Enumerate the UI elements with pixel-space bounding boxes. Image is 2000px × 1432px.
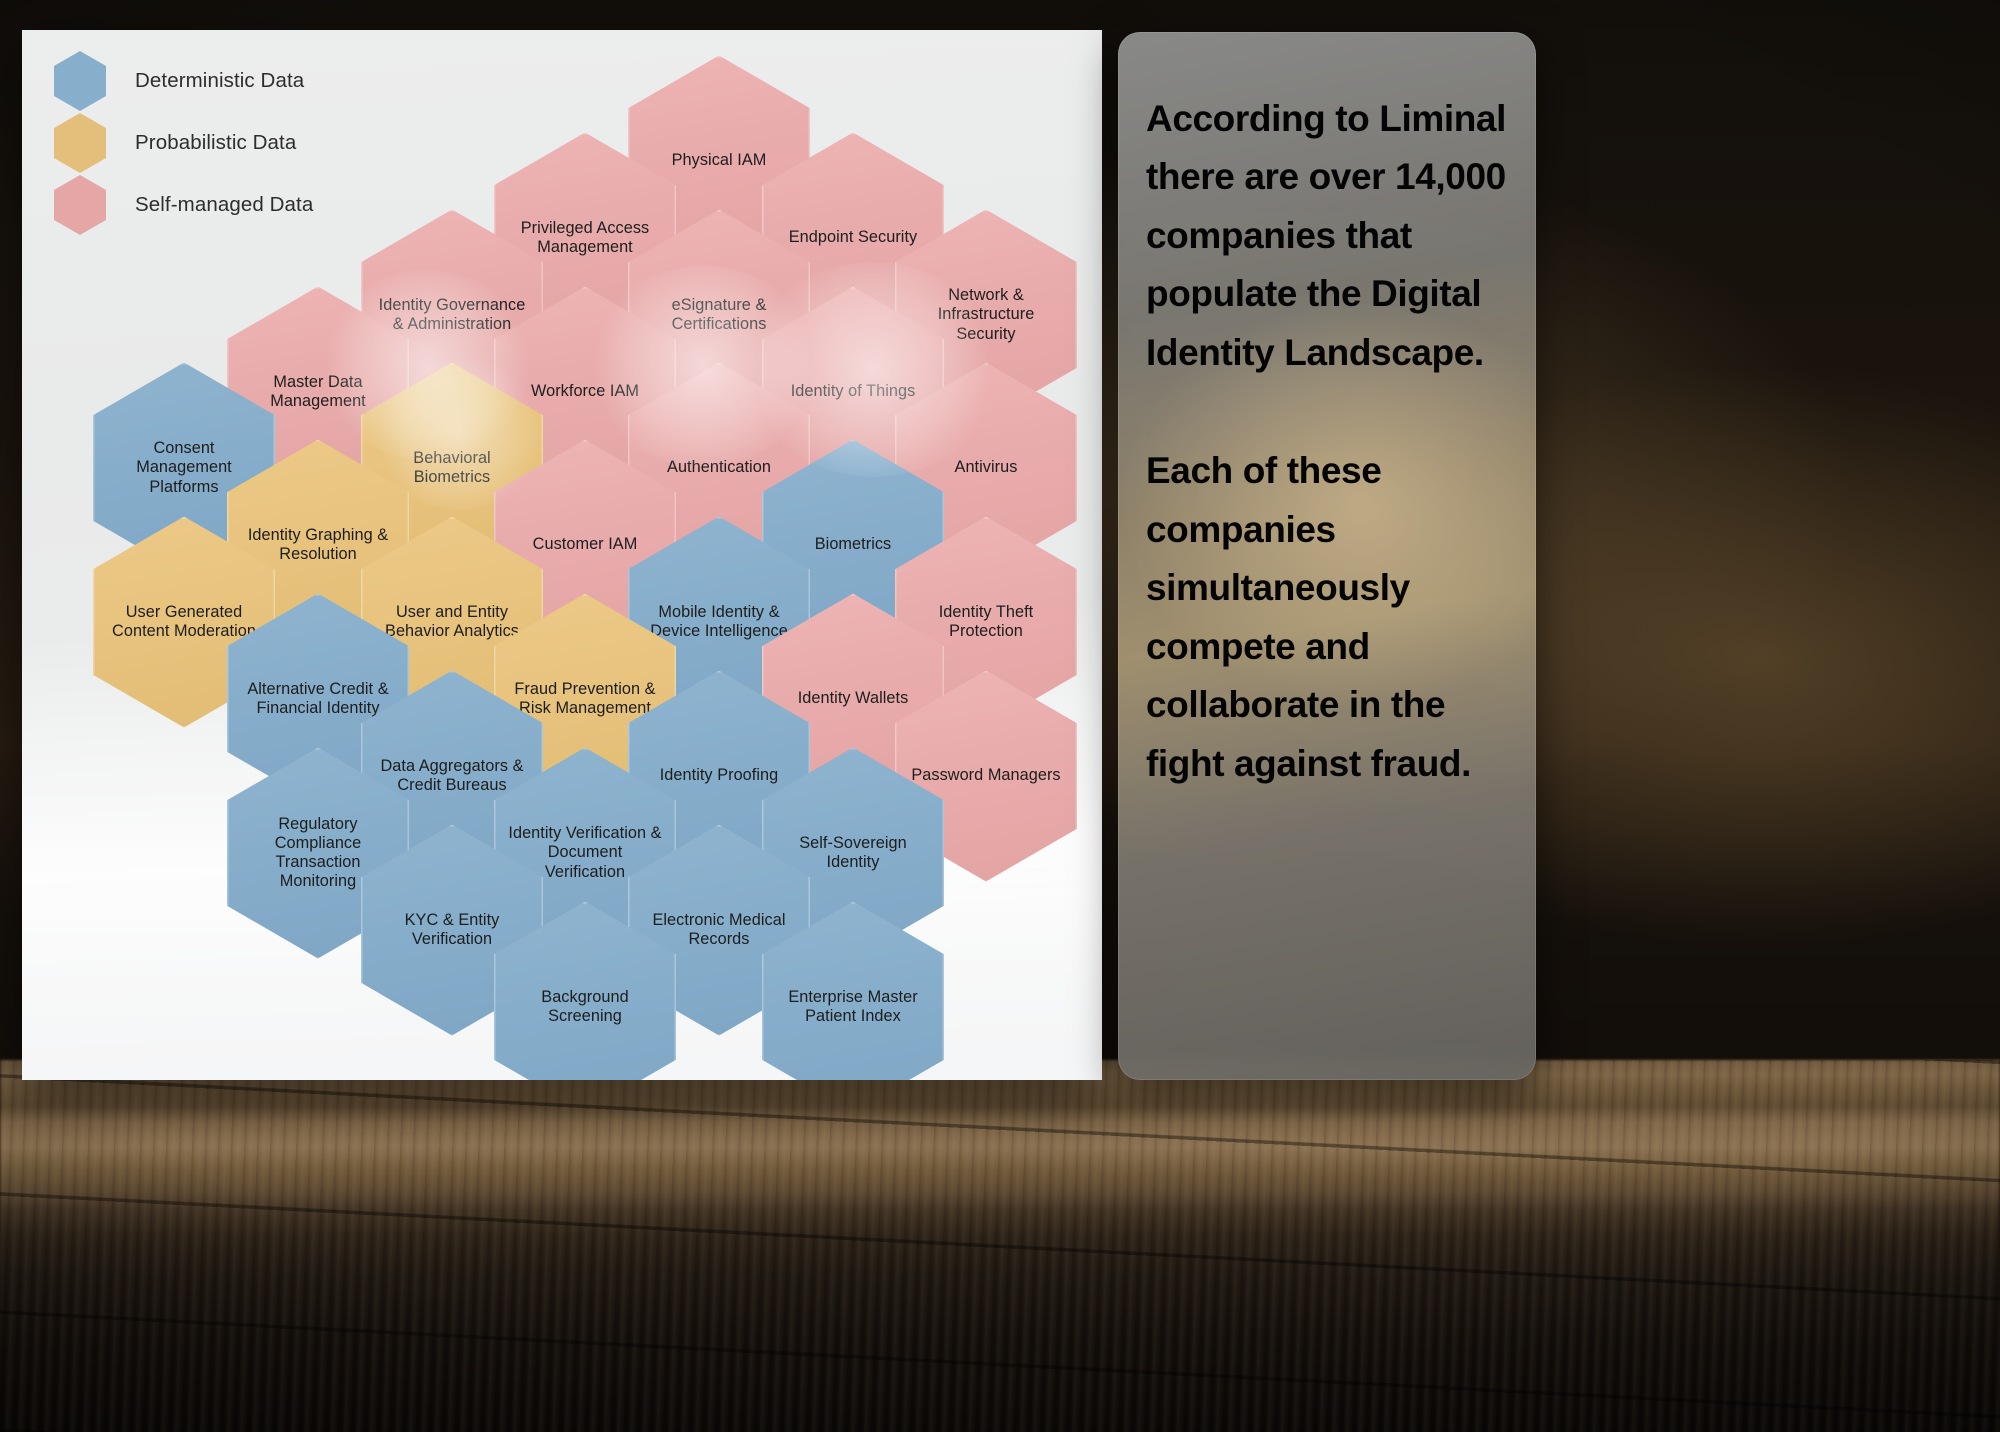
caption-card: According to Liminal there are over 14,0… [1118, 32, 1536, 1080]
hex-cell-label: Background Screening [494, 988, 676, 1026]
hex-cell-label: Physical IAM [659, 151, 780, 170]
hex-cell-label: Endpoint Security [776, 228, 930, 247]
legend-item-deterministic[interactable]: Deterministic Data [54, 50, 313, 112]
hex-cell-label: Customer IAM [520, 535, 651, 554]
hex-cell-label: Antivirus [942, 458, 1031, 477]
legend: Deterministic Data Probabilistic Data Se… [54, 50, 313, 236]
hexagon-swatch-icon [54, 175, 106, 235]
hexagon-swatch-icon [54, 51, 106, 111]
landscape-slide: Deterministic Data Probabilistic Data Se… [22, 30, 1102, 1080]
hex-cell-label: Identity Wallets [785, 689, 922, 708]
legend-item-label: Deterministic Data [135, 69, 304, 93]
hex-cell-label: Biometrics [802, 535, 905, 554]
hexagon-swatch-icon [54, 113, 106, 173]
legend-item-label: Self-managed Data [135, 193, 313, 217]
caption-paragraph-2: Each of these companies simultaneously c… [1146, 442, 1506, 793]
hex-cell-label: Identity Proofing [647, 766, 792, 785]
legend-item-self-managed[interactable]: Self-managed Data [54, 174, 313, 236]
legend-item-label: Probabilistic Data [135, 131, 296, 155]
hex-cell-label: Authentication [654, 458, 784, 477]
hex-cell-label: Password Managers [898, 766, 1073, 785]
hex-cell-label: Enterprise Master Patient Index [762, 988, 944, 1026]
hex-cell-label: Identity of Things [778, 382, 929, 401]
legend-item-probabilistic[interactable]: Probabilistic Data [54, 112, 313, 174]
hex-cell-label: Workforce IAM [518, 382, 652, 401]
caption-paragraph-1: According to Liminal there are over 14,0… [1146, 90, 1506, 382]
